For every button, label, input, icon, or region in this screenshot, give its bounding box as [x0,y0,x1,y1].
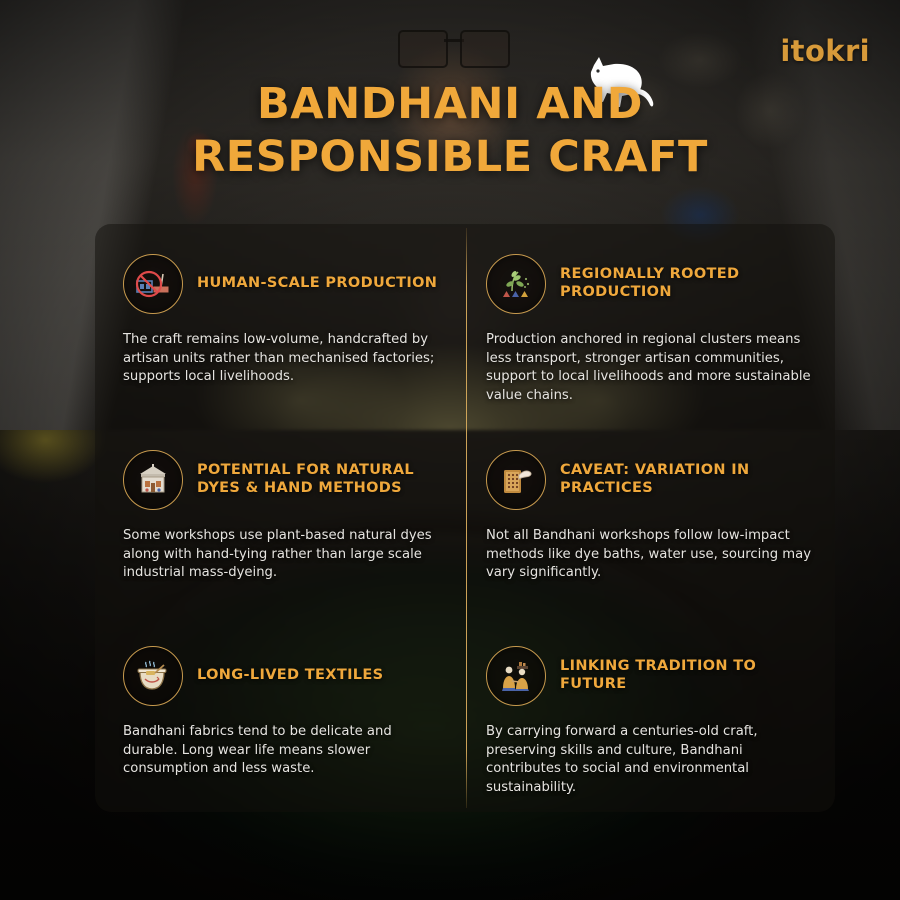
card-body: Some workshops use plant-based natural d… [123,527,442,583]
card-title: HUMAN-SCALE PRODUCTION [197,275,437,293]
infographic-poster: itokri BANDHANI AND RESPONSIBLE CRAFT [0,0,900,900]
card-caveat-variation: CAVEAT: VARIATION IN PRACTICES Not all B… [466,420,835,616]
card-header: CAVEAT: VARIATION IN PRACTICES [486,450,813,510]
card-header: POTENTIAL FOR NATURAL DYES & HAND METHOD… [123,450,442,510]
card-header: HUMAN-SCALE PRODUCTION [123,254,442,314]
card-body: By carrying forward a centuries-old craf… [486,723,813,798]
no-factory-machine-icon [123,254,183,314]
card-title: REGIONALLY ROOTED PRODUCTION [560,266,810,301]
card-body: Bandhani fabrics tend to be delicate and… [123,723,442,779]
brand-logo[interactable]: itokri [780,34,870,68]
craft-workshop-building-icon [123,450,183,510]
content-panel: HUMAN-SCALE PRODUCTION The craft remains… [95,224,835,812]
title-line-2: RESPONSIBLE CRAFT [70,131,830,184]
card-potential-natural-dyes: POTENTIAL FOR NATURAL DYES & HAND METHOD… [95,420,466,616]
card-header: LINKING TRADITION TO FUTURE [486,646,813,706]
card-header: REGIONALLY ROOTED PRODUCTION [486,254,813,314]
card-body: The craft remains low-volume, handcrafte… [123,331,442,387]
steaming-dye-pot-icon [123,646,183,706]
hand-holding-bandhani-fabric-icon [486,450,546,510]
card-linking-tradition-future: LINKING TRADITION TO FUTURE By carrying … [466,616,835,812]
cards-grid: HUMAN-SCALE PRODUCTION The craft remains… [95,224,835,812]
card-title: POTENTIAL FOR NATURAL DYES & HAND METHOD… [197,462,442,497]
card-body: Not all Bandhani workshops follow low-im… [486,527,813,583]
card-title: LONG-LIVED TEXTILES [197,667,383,685]
card-title: CAVEAT: VARIATION IN PRACTICES [560,462,810,497]
plant-and-dye-mounds-icon [486,254,546,314]
card-title: LINKING TRADITION TO FUTURE [560,658,810,693]
card-header: LONG-LIVED TEXTILES [123,646,442,706]
two-artisans-working-icon [486,646,546,706]
title-line-1: BANDHANI AND [70,78,830,131]
page-title: BANDHANI AND RESPONSIBLE CRAFT [0,78,900,184]
card-long-lived-textiles: LONG-LIVED TEXTILES Bandhani fabrics ten… [95,616,466,812]
card-regionally-rooted-production: REGIONALLY ROOTED PRODUCTION Production … [466,224,835,420]
card-body: Production anchored in regional clusters… [486,331,813,406]
card-human-scale-production: HUMAN-SCALE PRODUCTION The craft remains… [95,224,466,420]
